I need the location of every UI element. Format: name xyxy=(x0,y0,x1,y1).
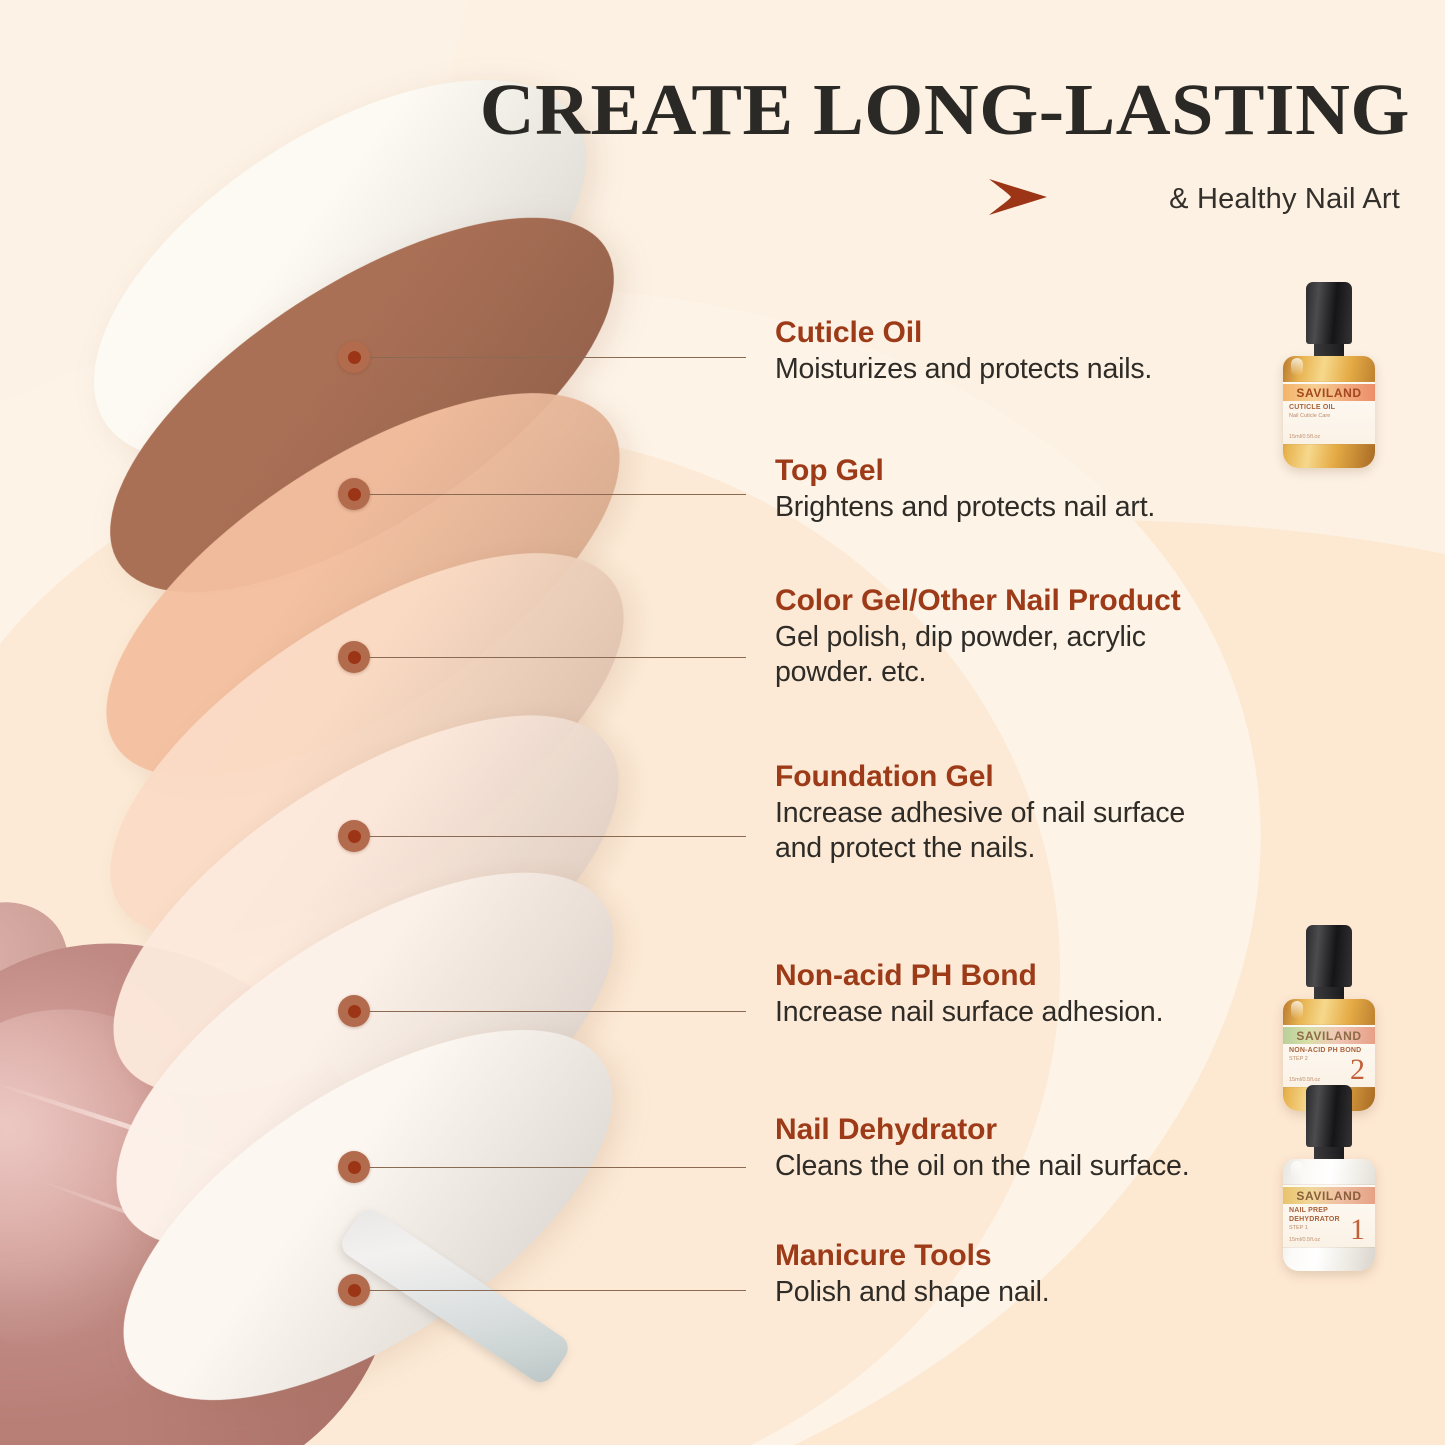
step-item: Cuticle OilMoisturizes and protects nail… xyxy=(775,315,1335,387)
step-description: Moisturizes and protects nails. xyxy=(775,352,1335,387)
step-title: Cuticle Oil xyxy=(775,315,1335,350)
bottle-brand: SAVILAND xyxy=(1283,1187,1375,1204)
bottle-cuticle-oil: SAVILANDCUTICLE OILNail Cuticle Care15ml… xyxy=(1283,282,1375,468)
step-item: Nail DehydratorCleans the oil on the nai… xyxy=(775,1112,1335,1184)
bottle-gloss xyxy=(1291,1001,1303,1019)
bottle-volume: 15ml/0.5fl.oz xyxy=(1289,1237,1320,1243)
connector-dot-core xyxy=(348,1284,361,1297)
connector-dot-core xyxy=(348,830,361,843)
connector-dot xyxy=(338,1151,370,1183)
arrow-right-icon xyxy=(987,175,1049,224)
connector-dot-core xyxy=(348,1161,361,1174)
step-title: Foundation Gel xyxy=(775,759,1335,794)
bottle-neck xyxy=(1314,1147,1344,1159)
bottle-label: SAVILANDNON-ACID PH BONDSTEP 215ml/0.5fl… xyxy=(1283,1025,1375,1087)
subtitle-text: & Healthy Nail Art xyxy=(1169,183,1400,216)
step-title: Manicure Tools xyxy=(775,1238,1335,1273)
step-description: Increase adhesive of nail surfaceand pro… xyxy=(775,796,1335,866)
connector-dot-core xyxy=(348,651,361,664)
bottle-neck xyxy=(1314,344,1344,356)
connector-dot xyxy=(338,820,370,852)
leader-line xyxy=(354,657,746,658)
bottle-cap xyxy=(1306,282,1352,344)
connector-dot xyxy=(338,1274,370,1306)
step-description: Gel polish, dip powder, acrylicpowder. e… xyxy=(775,620,1335,690)
step-item: Color Gel/Other Nail ProductGel polish, … xyxy=(775,583,1335,690)
step-description: Polish and shape nail. xyxy=(775,1275,1335,1310)
step-description: Brightens and protects nail art. xyxy=(775,490,1335,525)
bottle-gloss xyxy=(1291,358,1303,376)
bottle-brand: SAVILAND xyxy=(1283,384,1375,401)
bottle-label: SAVILANDNAIL PREP DEHYDRATORSTEP 115ml/0… xyxy=(1283,1185,1375,1247)
step-description: Increase nail surface adhesion. xyxy=(775,995,1335,1030)
bottle-volume: 15ml/0.5fl.oz xyxy=(1289,1077,1320,1083)
bottle-step-number: 2 xyxy=(1350,1055,1365,1085)
step-title: Nail Dehydrator xyxy=(775,1112,1335,1147)
leader-line xyxy=(354,1290,746,1291)
bottle-volume: 15ml/0.5fl.oz xyxy=(1289,434,1320,440)
connector-dot xyxy=(338,641,370,673)
bottle-cap xyxy=(1306,1085,1352,1147)
connector-dot xyxy=(338,478,370,510)
infographic-canvas: CREATE LONG-LASTING & Healthy Nail Art C… xyxy=(0,0,1445,1445)
connector-dot-core xyxy=(348,488,361,501)
leader-line xyxy=(354,494,746,495)
bottle-body: SAVILANDCUTICLE OILNail Cuticle Care15ml… xyxy=(1283,356,1375,468)
bottle-gloss xyxy=(1291,1161,1303,1179)
connector-dot xyxy=(338,341,370,373)
bottle-body: SAVILANDNAIL PREP DEHYDRATORSTEP 115ml/0… xyxy=(1283,1159,1375,1271)
page-title: CREATE LONG-LASTING xyxy=(432,72,1410,148)
bottle-cap xyxy=(1306,925,1352,987)
step-item: Foundation GelIncrease adhesive of nail … xyxy=(775,759,1335,866)
bottle-label: SAVILANDCUTICLE OILNail Cuticle Care15ml… xyxy=(1283,382,1375,444)
step-item: Manicure ToolsPolish and shape nail. xyxy=(775,1238,1335,1310)
step-item: Top GelBrightens and protects nail art. xyxy=(775,453,1335,525)
bottle-nail-prep-dehydrator: SAVILANDNAIL PREP DEHYDRATORSTEP 115ml/0… xyxy=(1283,1085,1375,1271)
bottle-product-name: CUTICLE OILNail Cuticle Care xyxy=(1289,404,1369,420)
connector-dot-core xyxy=(348,351,361,364)
leader-line xyxy=(354,1167,746,1168)
leader-line xyxy=(354,836,746,837)
subtitle-row: & Healthy Nail Art xyxy=(700,175,1400,224)
step-title: Top Gel xyxy=(775,453,1335,488)
leader-line xyxy=(354,1011,746,1012)
step-item: Non-acid PH BondIncrease nail surface ad… xyxy=(775,958,1335,1030)
leader-line xyxy=(354,357,746,358)
bottle-subtitle: Nail Cuticle Care xyxy=(1289,413,1369,420)
bottle-brand: SAVILAND xyxy=(1283,1027,1375,1044)
step-title: Non-acid PH Bond xyxy=(775,958,1335,993)
step-title: Color Gel/Other Nail Product xyxy=(775,583,1335,618)
bottle-step-number: 1 xyxy=(1350,1215,1365,1245)
step-description: Cleans the oil on the nail surface. xyxy=(775,1149,1335,1184)
connector-dot-core xyxy=(348,1005,361,1018)
connector-dot xyxy=(338,995,370,1027)
bottle-neck xyxy=(1314,987,1344,999)
bottle-non-acid-ph-bond: SAVILANDNON-ACID PH BONDSTEP 215ml/0.5fl… xyxy=(1283,925,1375,1111)
